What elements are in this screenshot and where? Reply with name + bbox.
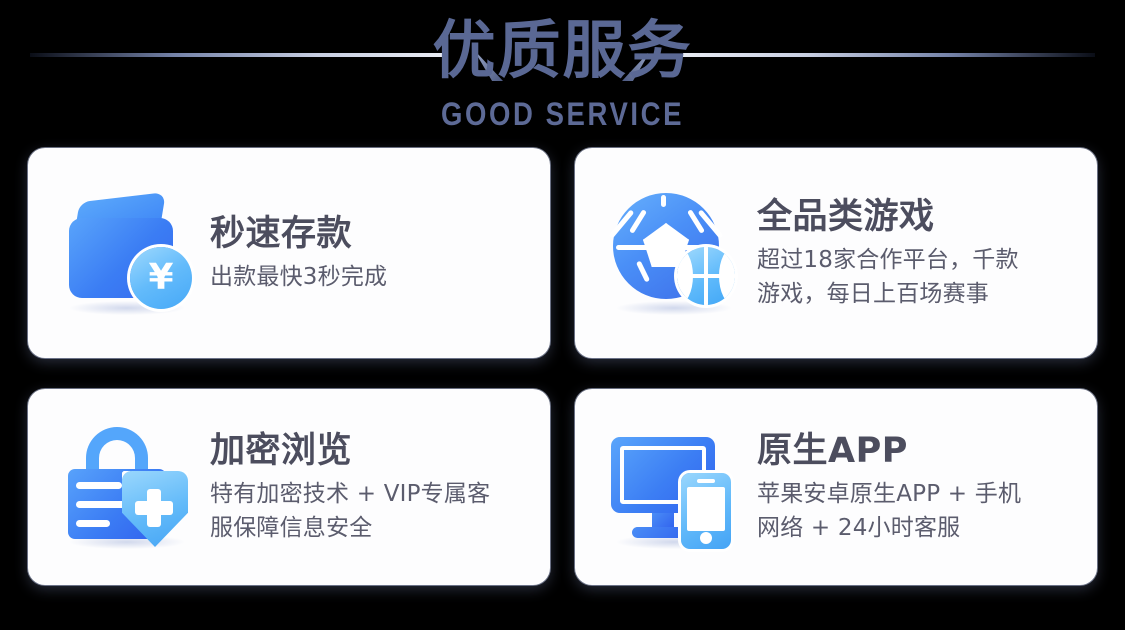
page-subtitle: GOOD SERVICE: [79, 96, 1047, 132]
card-desc-line: 游戏，每日上百场赛事: [757, 277, 1075, 311]
soccer-basketball-icon: [607, 185, 743, 321]
soccer-seam: [609, 209, 635, 238]
lock-shield-icon: [60, 419, 196, 555]
monitor-phone-icon: [607, 419, 743, 555]
card-title: 加密浏览: [210, 429, 528, 473]
card-desc-line: 出款最快3秒完成: [210, 260, 528, 294]
card-title: 秒速存款: [210, 212, 528, 256]
card-text-block: 加密浏览 特有加密技术 + VIP专属客 服保障信息安全: [210, 429, 532, 545]
card-text-block: 原生APP 苹果安卓原生APP + 手机 网络 + 24小时客服: [757, 429, 1079, 545]
feature-card-grid: ¥ 秒速存款 出款最快3秒完成: [28, 148, 1097, 585]
card-desc-line: 超过18家合作平台，千款: [757, 243, 1075, 277]
card-text-block: 秒速存款 出款最快3秒完成: [210, 212, 532, 294]
soccer-seam: [661, 195, 666, 207]
card-description: 特有加密技术 + VIP专属客 服保障信息安全: [210, 477, 528, 545]
basketball-seam: [677, 247, 693, 305]
soccer-seam: [636, 261, 650, 283]
phone-home-button: [700, 532, 712, 544]
good-service-panel: 优质服务 GOOD SERVICE ¥ 秒速存款 出款最快3秒完成: [0, 0, 1125, 630]
basketball-icon: [677, 247, 735, 305]
feature-card-all-games[interactable]: 全品类游戏 超过18家合作平台，千款 游戏，每日上百场赛事: [575, 148, 1097, 358]
card-text-block: 全品类游戏 超过18家合作平台，千款 游戏，每日上百场赛事: [757, 195, 1079, 311]
card-desc-line: 网络 + 24小时客服: [757, 511, 1075, 545]
card-desc-line: 特有加密技术 + VIP专属客: [210, 477, 528, 511]
feature-card-native-app[interactable]: 原生APP 苹果安卓原生APP + 手机 网络 + 24小时客服: [575, 389, 1097, 585]
basketball-seam: [719, 247, 735, 305]
card-title: 全品类游戏: [757, 195, 1075, 239]
section-header: 优质服务 GOOD SERVICE: [0, 0, 1125, 140]
padlock-stripe: [76, 482, 122, 489]
feature-card-instant-deposit[interactable]: ¥ 秒速存款 出款最快3秒完成: [28, 148, 550, 358]
card-title: 原生APP: [757, 429, 1075, 473]
feature-card-encrypted-browsing[interactable]: 加密浏览 特有加密技术 + VIP专属客 服保障信息安全: [28, 389, 550, 585]
phone-icon: [681, 473, 731, 549]
padlock-stripe: [76, 520, 110, 527]
card-desc-line: 苹果安卓原生APP + 手机: [757, 477, 1075, 511]
yen-coin-icon: ¥: [130, 247, 192, 309]
card-description: 苹果安卓原生APP + 手机 网络 + 24小时客服: [757, 477, 1075, 545]
soccer-seam: [698, 209, 724, 238]
card-desc-line: 服保障信息安全: [210, 511, 528, 545]
phone-screen: [687, 487, 725, 531]
wallet-yen-icon: ¥: [60, 185, 196, 321]
card-description: 超过18家合作平台，千款 游戏，每日上百场赛事: [757, 243, 1075, 311]
page-title: 优质服务: [0, 14, 1125, 88]
card-description: 出款最快3秒完成: [210, 260, 528, 294]
